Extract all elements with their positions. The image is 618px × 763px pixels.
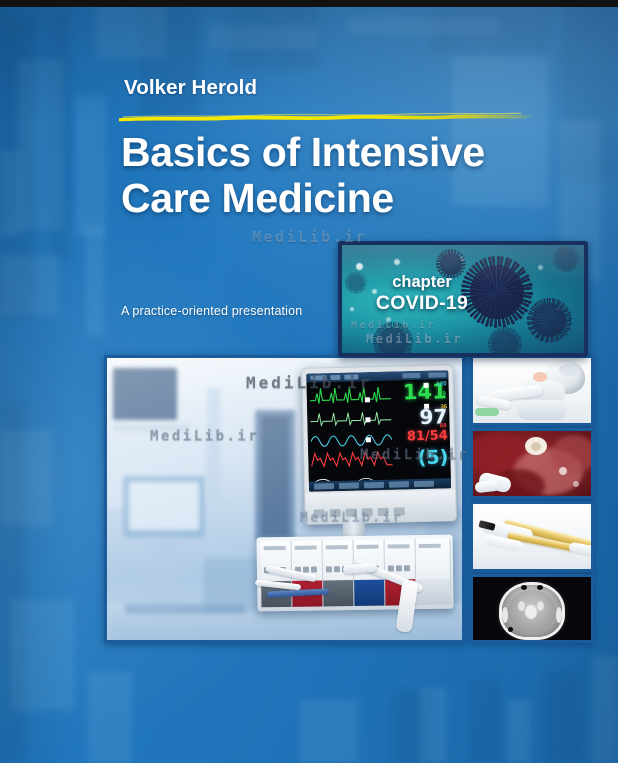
covid-badge-line-1: chapter: [362, 273, 482, 292]
virus-particle: [378, 327, 408, 357]
monitor-aux-2: 9: [442, 391, 445, 397]
thumbnail-airway-manikin: [470, 355, 594, 426]
monitor-control-keys[interactable]: [314, 507, 405, 517]
page-title: Basics of Intensive Care Medicine: [121, 130, 571, 222]
monitor-chin: [305, 490, 456, 524]
monitor-bezel: 141 97 81/54 (5) 120 9 36 68: [306, 370, 451, 491]
resp-rate-value: (5): [392, 448, 448, 468]
thumbnail-ct-head-scan: [470, 574, 594, 643]
virus-particle: [532, 303, 566, 337]
patient-monitor: 141 97 81/54 (5) 120 9 36 68: [301, 364, 457, 525]
monitor-bottom-bar: [309, 478, 451, 491]
title-line-1: Basics of Intensive: [121, 130, 571, 176]
monitor-aux-3: 36: [440, 404, 447, 410]
ecg-waveform-2: [310, 405, 392, 429]
covid-chapter-badge: chapter COVID-19: [338, 241, 588, 357]
covid-badge-label: chapter COVID-19: [362, 273, 482, 315]
arterial-waveform: [311, 447, 393, 471]
author-name: Volker Herold: [124, 76, 257, 100]
monitor-aux-1: 120: [436, 381, 446, 387]
thumbnail-endoscopic-view: [470, 428, 594, 499]
icu-photo: 141 97 81/54 (5) 120 9 36 68: [104, 355, 465, 643]
monitor-screen: 141 97 81/54 (5) 120 9 36 68: [306, 379, 450, 481]
yellow-highlight-stroke: [117, 110, 537, 122]
ecg-waveform-1: [310, 383, 392, 407]
top-black-bar: [0, 0, 618, 7]
covid-badge-line-2: COVID-19: [362, 292, 482, 315]
blood-pressure-value: 81/54: [392, 429, 448, 443]
subtitle: A practice-oriented presentation: [121, 304, 302, 318]
pump-module: [416, 539, 452, 605]
monitor-aux-4: 68: [440, 423, 447, 429]
thumbnail-catheter-instruments: [470, 501, 594, 572]
title-line-2: Care Medicine: [121, 176, 571, 222]
virus-particle: [492, 331, 518, 357]
photo-collage: 141 97 81/54 (5) 120 9 36 68: [104, 355, 594, 643]
book-cover: Volker Herold Basics of Intensive Care M…: [0, 0, 618, 763]
